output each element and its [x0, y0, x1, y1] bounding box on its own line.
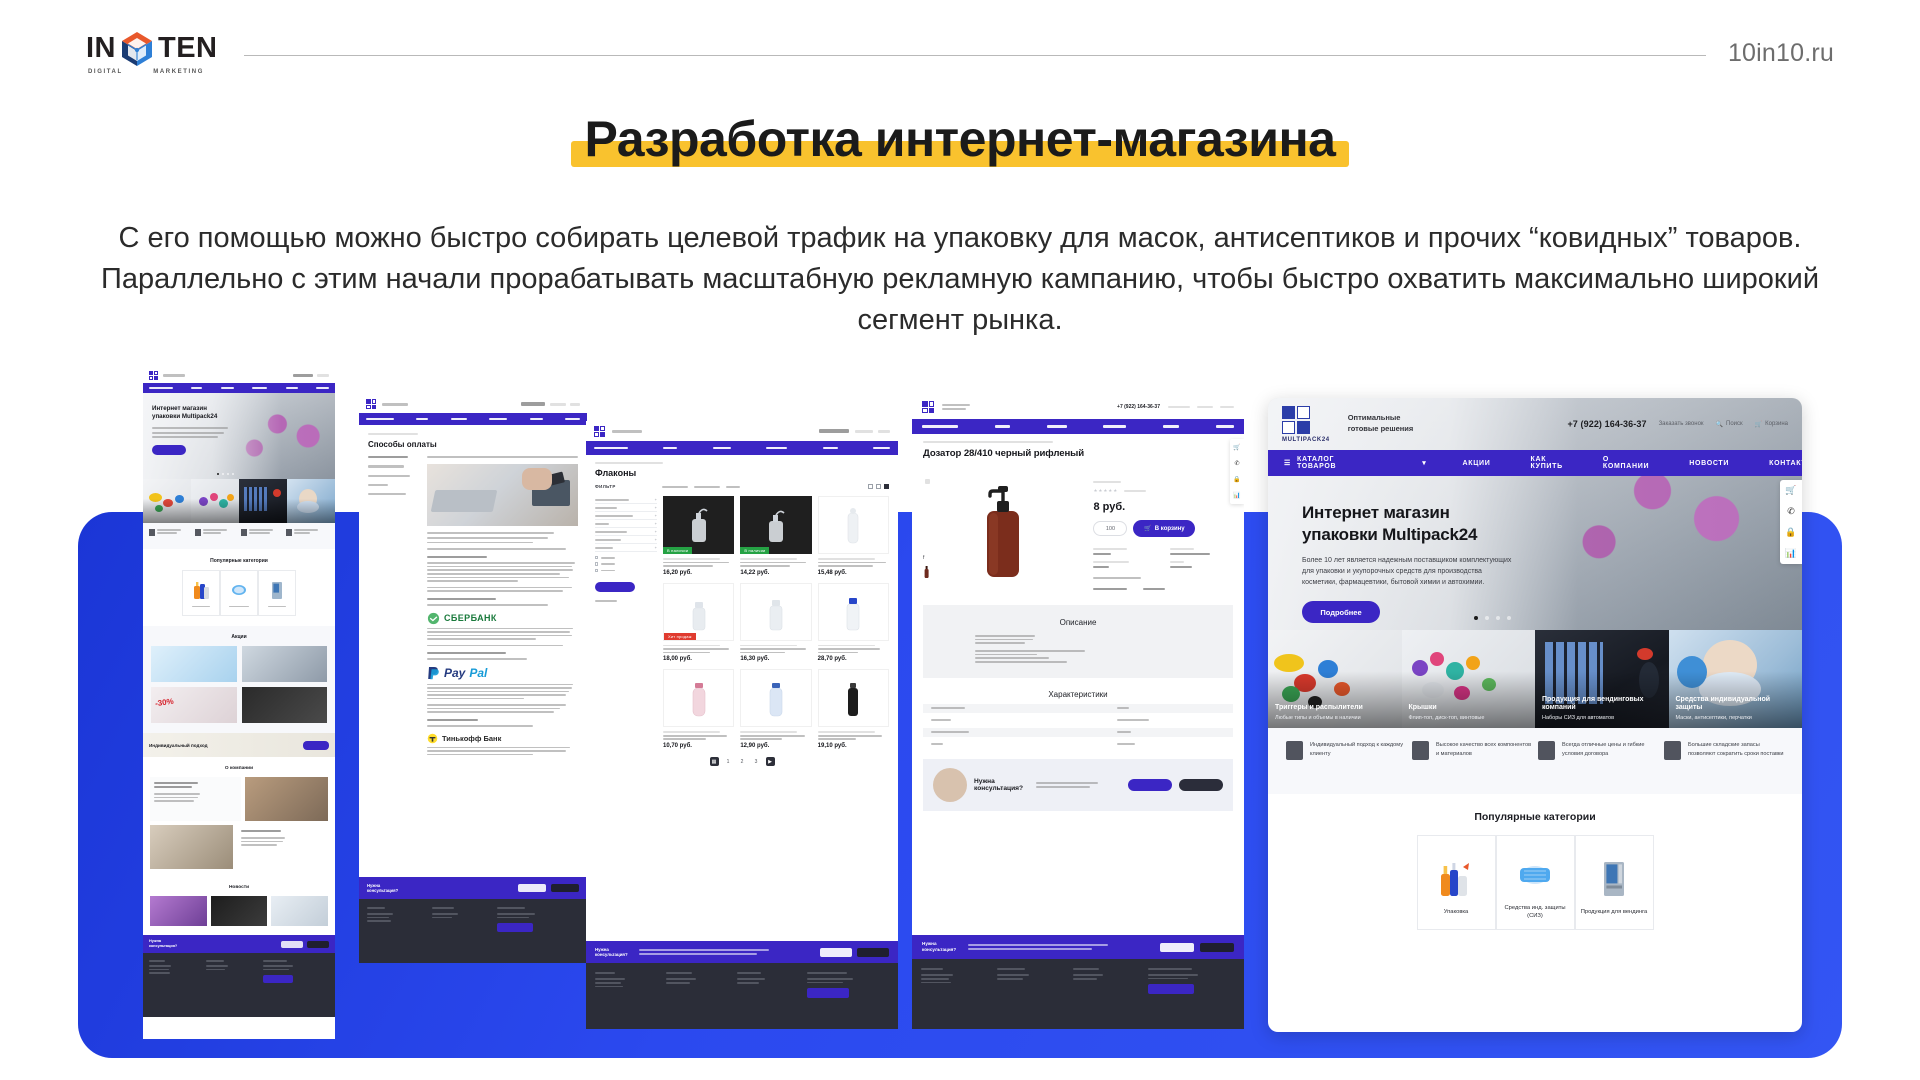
- s2-consult-1: Нужна: [367, 883, 380, 888]
- site-phone[interactable]: +7 (922) 164-36-37: [1567, 419, 1646, 429]
- side-rail[interactable]: 🛒 ✆ 🔒 📊: [1780, 480, 1802, 564]
- product-price: 15,48 руб.: [818, 570, 889, 576]
- s3-consult-2: консультация?: [595, 952, 628, 957]
- category-cards: Триггеры и распылители Любые типы и объе…: [1268, 630, 1802, 728]
- category-card-lids[interactable]: Крышки Флип-топ, диск-топ, винтовые: [1402, 630, 1536, 728]
- mini-consult-btn2[interactable]: [307, 941, 329, 948]
- news-card[interactable]: [150, 896, 207, 926]
- mini-category-strip: [143, 479, 335, 523]
- mini-hero-title-1: Интернет магазин: [152, 405, 335, 413]
- product-card[interactable]: 10,70 руб.: [663, 669, 734, 749]
- screenshot-home-page[interactable]: Интернет магазин упаковки Multipack24: [143, 367, 335, 1039]
- promo-card[interactable]: [151, 646, 237, 682]
- site-logo[interactable]: MULTIPACK24: [1282, 406, 1330, 443]
- share-icon[interactable]: f: [923, 555, 930, 561]
- mini-consult-1: Нужна: [149, 939, 161, 943]
- filter-label[interactable]: ФИЛЬТР: [595, 484, 616, 489]
- cart-control[interactable]: 🛒Корзина: [1755, 421, 1788, 428]
- tagline-1: Оптимальные: [1348, 413, 1414, 424]
- site-topbar: MULTIPACK24 Оптимальные готовые решения …: [1268, 398, 1802, 450]
- slide-header: IN TEN DIGITAL MAR: [0, 0, 1920, 106]
- s4-consult-1: Нужна: [974, 778, 1023, 785]
- popular-card-ppe[interactable]: Средства инд. защиты (СИЗ): [1496, 835, 1575, 930]
- page-3[interactable]: 3: [752, 757, 761, 766]
- add-to-cart-button[interactable]: 🛒 В корзину: [1133, 520, 1195, 537]
- logo-text-in: IN: [86, 34, 116, 63]
- category-card-ppe[interactable]: Средства индивидуальной защиты Маски, ан…: [1669, 630, 1803, 728]
- feature-item: Высокое качество всех компонентов и мате…: [1412, 741, 1532, 760]
- s2-consult-2: консультация?: [367, 888, 398, 893]
- news-card[interactable]: [211, 896, 268, 926]
- next-page-icon[interactable]: ▶: [766, 757, 775, 766]
- product-card[interactable]: 16,30 руб.: [740, 583, 811, 663]
- product-title: Дозатор 28/410 черный рифленый: [923, 448, 1233, 459]
- popular-label: Упаковка: [1444, 909, 1469, 917]
- callback-link[interactable]: Заказать звонок: [1659, 421, 1704, 427]
- nav-item-promo[interactable]: АКЦИИ: [1462, 460, 1490, 467]
- cat-title: Крышки: [1409, 704, 1530, 713]
- mask-icon: [1516, 854, 1554, 896]
- hero-section: MULTIPACK24 Оптимальные готовые решения …: [1268, 398, 1802, 630]
- cat-title: Средства индивидуальной защиты: [1676, 696, 1797, 714]
- tagline-2: готовые решения: [1348, 424, 1414, 435]
- avatar: [933, 768, 967, 802]
- promo-card[interactable]: -30%: [151, 687, 237, 723]
- product-price: 19,10 руб.: [818, 743, 889, 749]
- product-grid: В наличии 16,20 руб. В наличии 14,22 руб…: [663, 496, 889, 749]
- nav-item-contacts[interactable]: КОНТАКТЫ: [1769, 460, 1802, 467]
- chevron-down-icon: ▾: [1422, 459, 1426, 467]
- cube-logo-icon: [117, 29, 157, 69]
- logo-sub-marketing: MARKETING: [153, 69, 204, 75]
- hero-title-line2: упаковки Multipack24: [1302, 524, 1802, 546]
- category-card-triggers[interactable]: Триггеры и распылители Любые типы и объе…: [1268, 630, 1402, 728]
- quantity-stepper[interactable]: 100: [1093, 521, 1127, 536]
- consultation-banner: Нужна консультация?: [923, 759, 1233, 811]
- product-price: 12,90 руб.: [740, 743, 811, 749]
- product-card[interactable]: Хит продаж 18,00 руб.: [663, 583, 734, 663]
- product-price: 14,22 руб.: [740, 570, 811, 576]
- vending-icon: [1595, 858, 1633, 900]
- phone-icon[interactable]: ✆: [1787, 507, 1795, 516]
- features-row: Индивидуальный подход к каждому клиенту …: [1268, 728, 1802, 794]
- cat-sub: Маски, антисептики, перчатки: [1676, 715, 1797, 721]
- chart-icon[interactable]: 📊: [1233, 492, 1240, 499]
- payment-photo: [427, 464, 578, 526]
- product-card[interactable]: 12,90 руб.: [740, 669, 811, 749]
- characteristics-heading: Характеристики: [923, 690, 1233, 699]
- cart-icon: 🛒: [1755, 421, 1762, 428]
- mini-hero-title-2: упаковки Multipack24: [152, 413, 335, 421]
- mini-popular-heading: Популярные категории: [143, 558, 335, 564]
- mini-consult-2: консультация?: [149, 944, 177, 948]
- cart-icon: 🛒: [1144, 525, 1151, 532]
- filter-sidebar[interactable]: + + + + + + +: [595, 496, 657, 749]
- callback-button[interactable]: [1128, 779, 1172, 791]
- sberbank-logo: СБЕРБАНК: [427, 612, 578, 625]
- popular-label: Продукция для вендинга: [1581, 909, 1648, 917]
- header-divider: [244, 55, 1706, 56]
- product-card[interactable]: 28,70 руб.: [818, 583, 889, 663]
- nav-item-about[interactable]: О КОМПАНИИ: [1603, 456, 1649, 470]
- main-nav[interactable]: ☰ КАТАЛОГ ТОВАРОВ ▾ АКЦИИ КАК КУПИТЬ О К…: [1268, 450, 1802, 476]
- cart-icon[interactable]: 🛒: [1233, 444, 1240, 451]
- product-price: 10,70 руб.: [663, 743, 734, 749]
- ask-question-button[interactable]: [1179, 779, 1223, 791]
- nav-item-news[interactable]: НОВОСТИ: [1689, 460, 1729, 467]
- s4-side-rail[interactable]: 🛒 ✆ 🔒 📊: [1230, 439, 1244, 504]
- chart-icon[interactable]: 📊: [1785, 549, 1796, 558]
- page-1[interactable]: 1: [724, 757, 733, 766]
- site-tagline: Оптимальные готовые решения: [1348, 413, 1414, 435]
- hamburger-icon: ☰: [1284, 459, 1291, 467]
- logo-squares-icon: [1282, 406, 1330, 434]
- s4-btn-b[interactable]: [1200, 943, 1234, 952]
- s2-consult-btn2[interactable]: [551, 884, 579, 892]
- warehouse-icon: [1664, 741, 1681, 760]
- feature-item: Всегда отличные цены и гибкие условия до…: [1538, 741, 1658, 760]
- pagination[interactable]: ▦ 1 2 3 ▶: [595, 757, 889, 766]
- product-card[interactable]: 15,48 руб.: [818, 496, 889, 576]
- mini-news-heading: Новости: [150, 885, 328, 890]
- quality-icon: [1412, 741, 1429, 760]
- mini-cta-button[interactable]: [303, 741, 329, 750]
- mini-promo-heading: Акции: [151, 634, 327, 640]
- tinkoff-logo: Тинькофф Банк: [427, 733, 578, 744]
- logo-sub-digital: DIGITAL: [88, 69, 123, 75]
- description-section: Описание: [923, 605, 1233, 678]
- company-logo: IN TEN DIGITAL MAR: [86, 32, 218, 75]
- cat-title: Продукция для вендинговых компаний: [1542, 696, 1663, 714]
- carousel-dots[interactable]: [1474, 616, 1511, 620]
- product-price: 16,20 руб.: [663, 570, 734, 576]
- price-icon: [1538, 741, 1555, 760]
- promo-card[interactable]: [242, 687, 328, 723]
- hero-title-line1: Интернет магазин: [1302, 502, 1802, 524]
- lock-icon[interactable]: 🔒: [1233, 476, 1240, 483]
- hero-more-button[interactable]: Подробнее: [1302, 601, 1380, 623]
- screenshot-home-page-large[interactable]: MULTIPACK24 Оптимальные готовые решения …: [1268, 398, 1802, 1032]
- grid-view-icon[interactable]: ▦: [710, 757, 719, 766]
- category-card-vending[interactable]: Продукция для вендинговых компаний Набор…: [1535, 630, 1669, 728]
- product-image: [971, 477, 1035, 587]
- product-card[interactable]: В наличии 16,20 руб.: [663, 496, 734, 576]
- popular-heading: Популярные категории: [1268, 811, 1802, 823]
- nav-item-howtobuy[interactable]: КАК КУПИТЬ: [1531, 456, 1563, 470]
- mini-about-heading: О компании: [150, 766, 328, 771]
- screenshot-payment-page[interactable]: Способы оплаты: [359, 395, 587, 963]
- popular-label: Средства инд. защиты (СИЗ): [1497, 905, 1574, 921]
- screenshot-catalog-page[interactable]: Флаконы ФИЛЬТР + + + + +: [586, 421, 898, 1029]
- phone-icon[interactable]: ✆: [1234, 460, 1239, 467]
- slide-description: С его помощью можно быстро собирать целе…: [100, 218, 1820, 342]
- search-control[interactable]: 🔍Поиск: [1716, 421, 1743, 428]
- s4-c1: Нужна: [922, 941, 937, 946]
- cat-sub: Флип-топ, диск-топ, винтовые: [1409, 715, 1530, 721]
- feature-item: Индивидуальный подход к каждому клиенту: [1286, 741, 1406, 760]
- search-icon: 🔍: [1716, 421, 1723, 428]
- mini-logo-icon: [594, 426, 605, 437]
- cat-sub: Любые типы и объемы в наличии: [1275, 715, 1396, 721]
- description-heading: Описание: [923, 618, 1233, 627]
- s2-consult-btn[interactable]: [518, 884, 546, 892]
- s4-c2: консультация?: [922, 947, 956, 952]
- product-price: 18,00 руб.: [663, 656, 734, 662]
- bottles-icon: [1437, 858, 1475, 900]
- page-title: Разработка интернет-магазина: [585, 108, 1336, 171]
- nav-item-catalog[interactable]: ☰ КАТАЛОГ ТОВАРОВ: [1284, 456, 1336, 470]
- s4-btn-a[interactable]: [1160, 943, 1194, 952]
- logo-text-ten: TEN: [158, 34, 218, 63]
- s3-consult-1: Нужна: [595, 947, 609, 952]
- catalog-title: Флаконы: [595, 468, 889, 478]
- mini-popular-card[interactable]: [258, 570, 296, 616]
- hero-text: Более 10 лет является надежным поставщик…: [1302, 555, 1517, 589]
- product-card[interactable]: В наличии 14,22 руб.: [740, 496, 811, 576]
- slide-title-area: Разработка интернет-магазина: [0, 108, 1920, 171]
- promo-card[interactable]: [242, 646, 328, 682]
- s3-consult-btn2[interactable]: [857, 948, 889, 957]
- s4-phone[interactable]: +7 (922) 164-36-37: [1117, 404, 1160, 410]
- popular-card-packaging[interactable]: Упаковка: [1417, 835, 1496, 930]
- product-card[interactable]: 19,10 руб.: [818, 669, 889, 749]
- popular-card-vending[interactable]: Продукция для вендинга: [1575, 835, 1654, 930]
- brand-name: MULTIPACK24: [1282, 437, 1330, 443]
- popular-categories: Популярные категории Упаковка Средства и…: [1268, 794, 1802, 930]
- s4-consult-2: консультация?: [974, 785, 1023, 792]
- s3-consult-btn[interactable]: [820, 948, 852, 957]
- mini-popular-card[interactable]: [182, 570, 220, 616]
- mini-hero-button[interactable]: [152, 445, 186, 455]
- product-price: 8 руб.: [1093, 501, 1233, 513]
- slide-root: IN TEN DIGITAL MAR: [0, 0, 1920, 1080]
- cart-icon[interactable]: 🛒: [1785, 486, 1796, 495]
- characteristics-section: Характеристики: [923, 690, 1233, 749]
- mini-logo-icon: [149, 371, 158, 380]
- mini-cta-text: Индивидуальный подход: [149, 743, 208, 748]
- mini-logo-icon: [922, 401, 934, 413]
- news-card[interactable]: [271, 896, 328, 926]
- lock-icon[interactable]: 🔒: [1785, 528, 1796, 537]
- apply-filter-button[interactable]: [595, 582, 635, 592]
- cat-title: Триггеры и распылители: [1275, 704, 1396, 713]
- product-price: 28,70 руб.: [818, 656, 889, 662]
- screenshot-product-page[interactable]: +7 (922) 164-36-37 🛒 ✆ 🔒 📊 Дозатор 28/41…: [912, 395, 1244, 1029]
- payment-page-title: Способы оплаты: [368, 440, 578, 449]
- mini-logo-icon: [366, 399, 376, 409]
- site-url: 10in10.ru: [1728, 39, 1834, 68]
- feature-item: Большие складские запасы позволяют сокра…: [1664, 741, 1784, 760]
- mini-popular-card[interactable]: [220, 570, 258, 616]
- product-price: 16,30 руб.: [740, 656, 811, 662]
- mini-consult-btn[interactable]: [281, 941, 303, 948]
- cat-sub: Наборы СИЗ для автоматов: [1542, 715, 1663, 721]
- page-2[interactable]: 2: [738, 757, 747, 766]
- document-icon: [1286, 741, 1303, 760]
- paypal-logo: PayPal: [427, 666, 578, 681]
